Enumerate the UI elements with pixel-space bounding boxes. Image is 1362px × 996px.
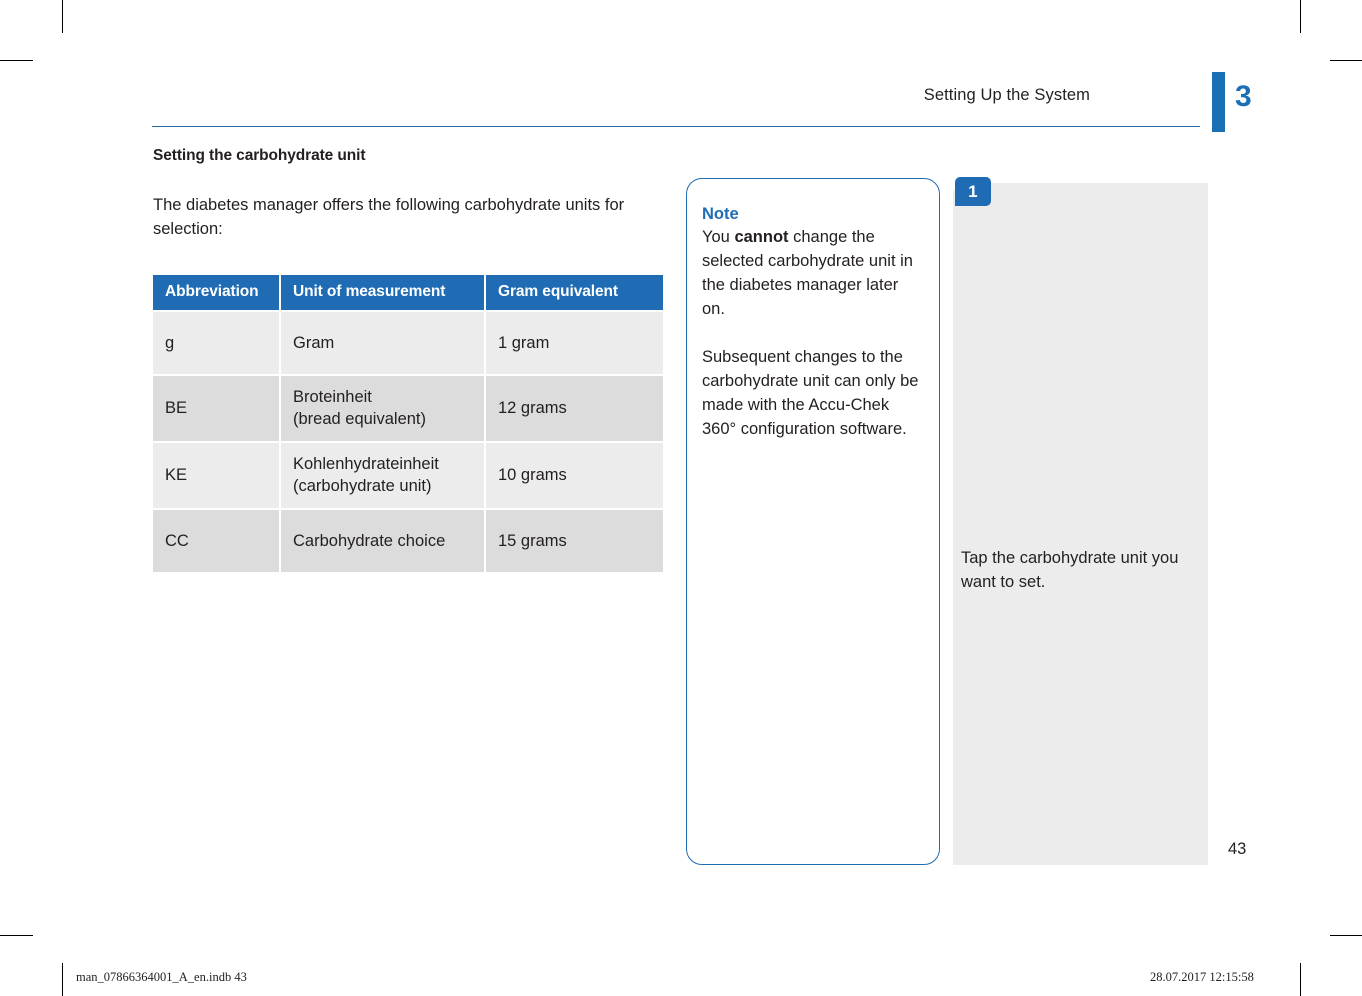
note-p1-emphasis: cannot	[734, 228, 788, 246]
cell-unit-line1: Gram	[293, 334, 334, 352]
cell-grams: 1 gram	[486, 312, 663, 374]
chapter-marker-bar	[1212, 72, 1225, 132]
cell-unit-line1: Broteinheit	[293, 388, 372, 406]
note-p1-pre: You	[702, 228, 734, 246]
running-header-title: Setting Up the System	[924, 86, 1090, 105]
intro-paragraph: The diabetes manager offers the followin…	[153, 193, 661, 241]
page-folio-number: 43	[1228, 840, 1246, 859]
cell-unit-line2: (carbohydrate unit)	[293, 477, 432, 495]
table-row: KE Kohlenhydrateinheit (carbohydrate uni…	[153, 443, 663, 508]
column-header-abbreviation: Abbreviation	[153, 275, 279, 310]
crop-mark-bottom-left-vertical	[62, 963, 63, 996]
cell-grams: 10 grams	[486, 443, 663, 508]
note-paragraph-1: You cannot change the selected carbohydr…	[702, 225, 919, 321]
note-heading: Note	[702, 203, 919, 225]
cell-unit-line2: (bread equivalent)	[293, 410, 426, 428]
cell-unit-line1: Carbohydrate choice	[293, 532, 445, 550]
chapter-number: 3	[1235, 82, 1252, 112]
column-header-grams: Gram equivalent	[486, 275, 663, 310]
illustration-panel: 07:00	[953, 183, 1208, 865]
table-row: BE Broteinheit (bread equivalent) 12 gra…	[153, 376, 663, 441]
cell-unit: Broteinheit (bread equivalent)	[281, 376, 484, 441]
illustration-caption: Tap the carbohydrate unit you want to se…	[961, 546, 1201, 594]
carbohydrate-units-table: Abbreviation Unit of measurement Gram eq…	[151, 273, 665, 574]
step-number-badge: 1	[955, 177, 991, 206]
cell-abbreviation: KE	[153, 443, 279, 508]
cell-unit-line1: Kohlenhydrateinheit	[293, 455, 439, 473]
crop-mark-top-right-horizontal	[1330, 60, 1362, 61]
cell-grams: 15 grams	[486, 510, 663, 572]
left-content-column: Setting the carbohydrate unit The diabet…	[153, 147, 665, 574]
crop-mark-bottom-right-vertical	[1300, 963, 1301, 996]
cell-grams: 12 grams	[486, 376, 663, 441]
imposition-filename: man_07866364001_A_en.indb 43	[76, 970, 247, 985]
column-header-unit: Unit of measurement	[281, 275, 484, 310]
cell-abbreviation: CC	[153, 510, 279, 572]
crop-mark-top-left-horizontal	[0, 60, 33, 61]
running-header: Setting Up the System 3	[152, 86, 1252, 132]
crop-mark-top-right-vertical	[1300, 0, 1301, 33]
manual-page: Setting Up the System 3 Setting the carb…	[0, 0, 1362, 996]
crop-mark-top-left-vertical	[62, 0, 63, 33]
cell-unit: Gram	[281, 312, 484, 374]
note-callout-box: Note You cannot change the selected carb…	[686, 178, 940, 865]
note-paragraph-2: Subsequent changes to the carbohydrate u…	[702, 345, 919, 441]
imposition-timestamp: 28.07.2017 12:15:58	[1150, 970, 1254, 985]
crop-mark-bottom-left-horizontal	[0, 935, 33, 936]
cell-abbreviation: g	[153, 312, 279, 374]
page-title: Setting the carbohydrate unit	[153, 147, 665, 165]
cell-unit: Kohlenhydrateinheit (carbohydrate unit)	[281, 443, 484, 508]
header-rule	[152, 126, 1200, 127]
cell-unit: Carbohydrate choice	[281, 510, 484, 572]
cell-abbreviation: BE	[153, 376, 279, 441]
table-row: g Gram 1 gram	[153, 312, 663, 374]
table-row: CC Carbohydrate choice 15 grams	[153, 510, 663, 572]
crop-mark-bottom-right-horizontal	[1330, 935, 1362, 936]
table-header-row: Abbreviation Unit of measurement Gram eq…	[153, 275, 663, 310]
